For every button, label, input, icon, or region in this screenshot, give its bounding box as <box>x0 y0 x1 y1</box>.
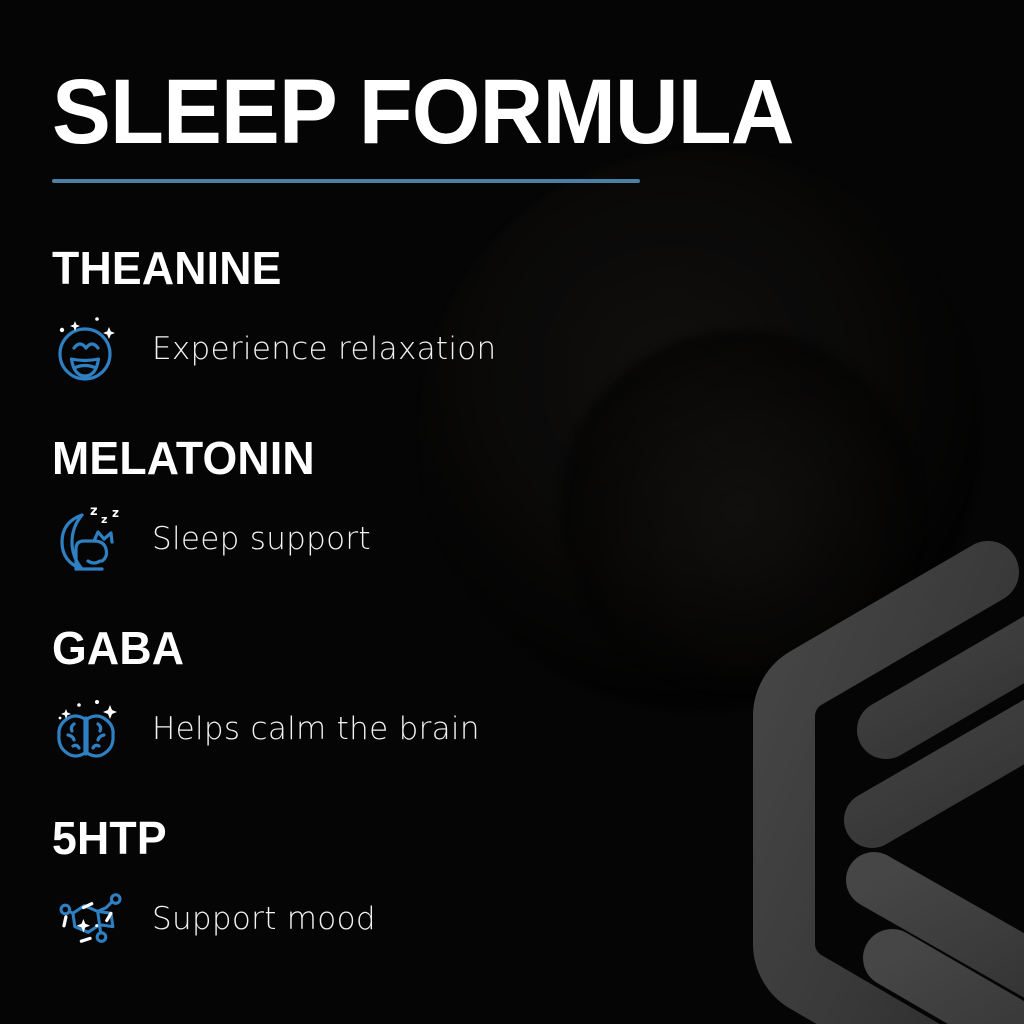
ingredient-detail-row: Support mood <box>52 881 952 957</box>
ingredient-item-gaba: GABA <box>52 625 952 815</box>
ingredient-description: Support mood <box>152 902 376 936</box>
brain-icon <box>52 691 130 767</box>
ingredient-detail-row: Helps calm the brain <box>52 691 952 767</box>
ingredient-item-5htp: 5HTP <box>52 815 952 1005</box>
molecule-icon <box>52 881 130 957</box>
smiling-face-icon <box>52 311 130 387</box>
ingredient-description: Helps calm the brain <box>152 712 480 746</box>
ingredient-name: MELATONIN <box>52 435 925 481</box>
svg-text:z: z <box>112 506 119 520</box>
title-underline-divider <box>52 179 640 183</box>
header: SLEEP FORMULA <box>52 66 812 183</box>
ingredient-item-theanine: THEANINE <box>52 245 952 435</box>
ingredient-detail-row: z z z Sleep support <box>52 501 952 577</box>
ingredient-list: THEANINE <box>52 245 952 1005</box>
svg-text:z: z <box>101 513 107 526</box>
ingredient-name: 5HTP <box>52 815 925 861</box>
ingredient-item-melatonin: MELATONIN z <box>52 435 952 625</box>
ingredient-name: THEANINE <box>52 245 925 291</box>
page-title: SLEEP FORMULA <box>52 66 782 158</box>
svg-text:z: z <box>90 504 98 519</box>
ingredient-description: Sleep support <box>152 522 371 556</box>
ingredient-detail-row: Experience relaxation <box>52 311 952 387</box>
sleeping-moon-icon: z z z <box>52 501 130 577</box>
ingredient-description: Experience relaxation <box>152 332 497 366</box>
ingredient-name: GABA <box>52 625 925 671</box>
